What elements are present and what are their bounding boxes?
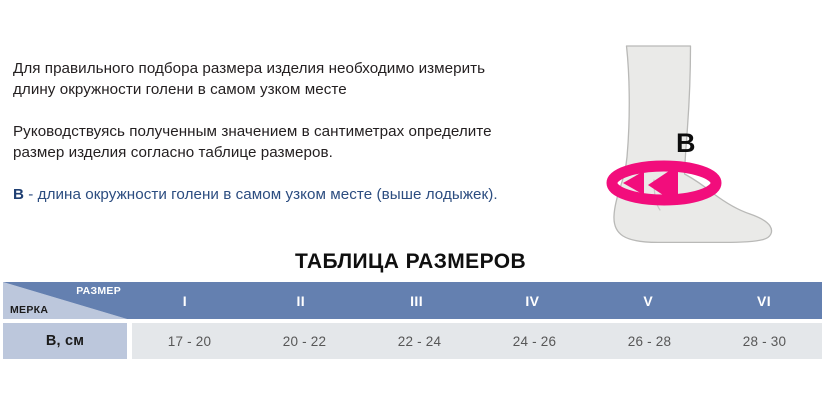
corner-measure-label: МЕРКА — [10, 304, 48, 316]
measure-marker-b: В — [13, 186, 24, 203]
cell-size-5: 26 - 28 — [592, 323, 707, 359]
instruction-paragraph-2: Руководствуясь полученным значением в са… — [13, 121, 503, 163]
row-label-measurement: В, см — [3, 323, 127, 359]
table-row: В, см 17 - 20 20 - 22 22 - 24 24 - 26 26… — [3, 323, 822, 359]
size-table: РАЗМЕР МЕРКА I II III IV V VI В, см 17 -… — [3, 282, 822, 359]
column-header-6: VI — [706, 282, 822, 319]
cell-size-1: 17 - 20 — [132, 323, 247, 359]
column-header-2: II — [243, 282, 359, 319]
corner-size-label: РАЗМЕР — [76, 285, 121, 297]
cell-size-2: 20 - 22 — [247, 323, 362, 359]
instructions-block: Для правильного подбора размера изделия … — [13, 58, 503, 205]
column-header-3: III — [359, 282, 475, 319]
column-header-4: IV — [474, 282, 590, 319]
column-header-1: I — [127, 282, 243, 319]
size-table-title: ТАБЛИЦА РАЗМЕРОВ — [0, 250, 831, 274]
cell-size-6: 28 - 30 — [707, 323, 822, 359]
table-corner-cell: РАЗМЕР МЕРКА — [3, 282, 127, 319]
instruction-paragraph-3: В - длина окружности голени в самом узко… — [13, 184, 503, 205]
leg-measurement-illustration: В — [592, 38, 792, 268]
measure-marker-description: - длина окружности голени в самом узком … — [24, 186, 498, 203]
size-table-header-row: РАЗМЕР МЕРКА I II III IV V VI — [3, 282, 822, 319]
column-header-5: V — [590, 282, 706, 319]
instruction-paragraph-1: Для правильного подбора размера изделия … — [13, 58, 503, 100]
cell-size-4: 24 - 26 — [477, 323, 592, 359]
measure-label-b: В — [676, 130, 696, 157]
cell-size-3: 22 - 24 — [362, 323, 477, 359]
